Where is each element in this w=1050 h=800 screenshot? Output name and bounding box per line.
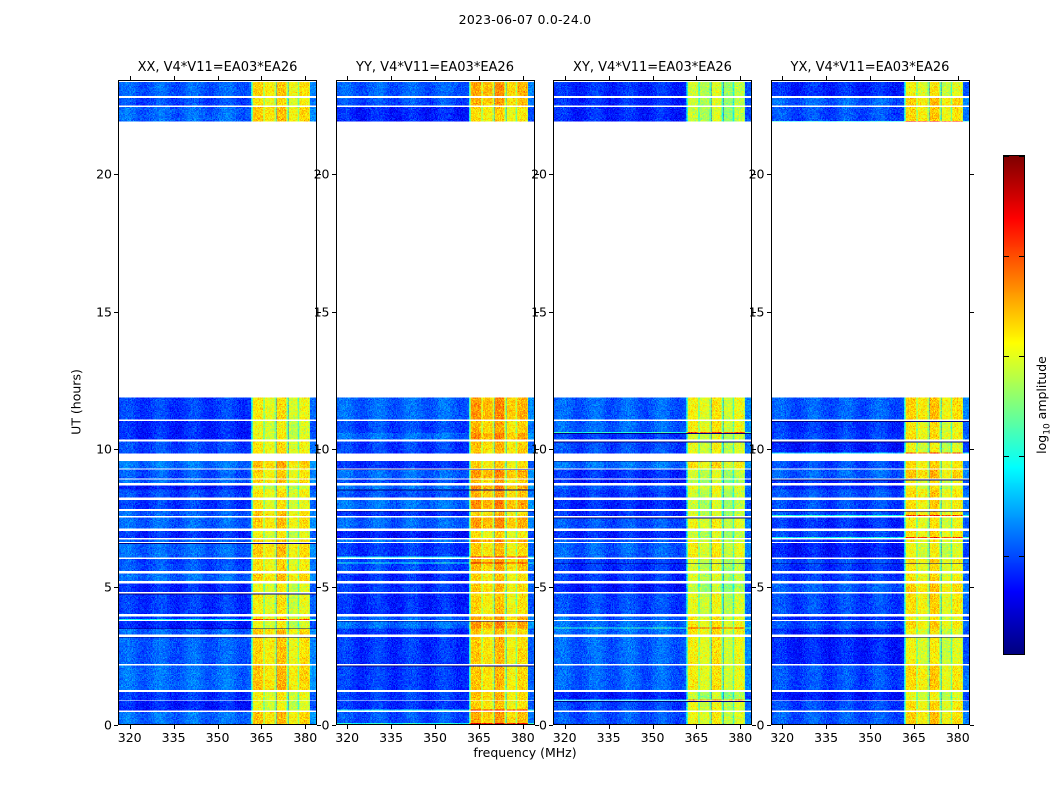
y-axis-tick bbox=[767, 725, 771, 726]
x-axis-tick-top bbox=[565, 76, 566, 80]
x-axis-tick-label: 320 bbox=[770, 730, 794, 745]
x-axis-tick-top bbox=[479, 76, 480, 80]
x-axis-tick-label: 365 bbox=[467, 730, 491, 745]
y-axis-tick-label: 0 bbox=[757, 718, 765, 733]
x-axis-tick-label: 350 bbox=[858, 730, 882, 745]
figure-suptitle: 2023-06-07 0.0-24.0 bbox=[0, 12, 1050, 27]
x-axis-tick-label: 335 bbox=[597, 730, 621, 745]
colorbar-tick bbox=[1004, 356, 1009, 357]
y-axis-tick bbox=[767, 587, 771, 588]
y-axis-tick-label: 15 bbox=[531, 304, 547, 319]
colorbar-tick bbox=[1004, 556, 1009, 557]
y-axis-tick-label: 10 bbox=[749, 442, 765, 457]
x-axis-tick-label: 350 bbox=[423, 730, 447, 745]
colorbar-label-prefix: log bbox=[1034, 435, 1049, 454]
x-axis-tick-label: 365 bbox=[902, 730, 926, 745]
colorbar-tick bbox=[1004, 156, 1009, 157]
y-axis-tick-label: 0 bbox=[322, 718, 330, 733]
y-axis-tick-label: 5 bbox=[322, 580, 330, 595]
x-axis-tick bbox=[782, 725, 783, 729]
y-axis-tick bbox=[114, 587, 118, 588]
y-axis-tick-right bbox=[970, 587, 974, 588]
x-axis-tick-top bbox=[130, 76, 131, 80]
x-axis-tick bbox=[391, 725, 392, 729]
y-axis-tick bbox=[114, 312, 118, 313]
x-axis-tick-top bbox=[609, 76, 610, 80]
colorbar-label-sub: 10 bbox=[1042, 423, 1050, 434]
heatmap-image-yy bbox=[337, 81, 534, 724]
x-axis-tick bbox=[130, 725, 131, 729]
y-axis-tick bbox=[549, 587, 553, 588]
y-axis-tick-label: 15 bbox=[749, 304, 765, 319]
x-axis-tick-label: 350 bbox=[206, 730, 230, 745]
colorbar-tick bbox=[1004, 456, 1009, 457]
x-axis-tick-top bbox=[826, 76, 827, 80]
panel-title-xy: XY, V4*V11=EA03*EA26 bbox=[553, 60, 752, 75]
x-axis-tick-top bbox=[305, 76, 306, 80]
colorbar-tick bbox=[1019, 156, 1024, 157]
x-axis-tick-label: 380 bbox=[728, 730, 752, 745]
y-axis-tick bbox=[767, 449, 771, 450]
colorbar-tick bbox=[1004, 256, 1009, 257]
heatmap-image-yx bbox=[772, 81, 969, 724]
y-axis-tick-label: 15 bbox=[314, 304, 330, 319]
y-axis-tick-right bbox=[970, 449, 974, 450]
y-axis-tick bbox=[114, 725, 118, 726]
x-axis-tick-top bbox=[914, 76, 915, 80]
y-axis-tick bbox=[767, 174, 771, 175]
panel-yy[interactable]: YY, V4*V11=EA03*EA26 3203353503653800510… bbox=[336, 80, 535, 725]
x-axis-tick bbox=[696, 725, 697, 729]
y-axis-tick bbox=[549, 312, 553, 313]
colorbar-tick bbox=[1019, 256, 1024, 257]
y-axis-tick bbox=[332, 449, 336, 450]
colorbar[interactable]: -4-3-2-101 bbox=[1003, 155, 1025, 655]
y-axis-tick bbox=[549, 174, 553, 175]
x-axis-tick bbox=[479, 725, 480, 729]
x-axis-label: frequency (MHz) bbox=[0, 745, 1050, 760]
x-axis-tick bbox=[347, 725, 348, 729]
y-axis-tick-label: 5 bbox=[539, 580, 547, 595]
x-axis-tick-label: 320 bbox=[553, 730, 577, 745]
x-axis-tick bbox=[914, 725, 915, 729]
x-axis-tick-top bbox=[696, 76, 697, 80]
x-axis-tick bbox=[305, 725, 306, 729]
x-axis-tick-top bbox=[782, 76, 783, 80]
figure-canvas: 2023-06-07 0.0-24.0 XX, V4*V11=EA03*EA26… bbox=[0, 0, 1050, 800]
y-axis-tick bbox=[332, 587, 336, 588]
y-axis-tick-right bbox=[317, 725, 321, 726]
y-axis-tick-right bbox=[317, 587, 321, 588]
axes-xy bbox=[553, 80, 752, 725]
panel-xy[interactable]: XY, V4*V11=EA03*EA26 3203353503653800510… bbox=[553, 80, 752, 725]
x-axis-tick bbox=[870, 725, 871, 729]
y-axis-tick bbox=[332, 174, 336, 175]
y-axis-tick bbox=[767, 312, 771, 313]
x-axis-tick-label: 380 bbox=[511, 730, 535, 745]
x-axis-tick-top bbox=[218, 76, 219, 80]
colorbar-label: log10 amplitude bbox=[1034, 356, 1050, 454]
y-axis-tick-right bbox=[970, 725, 974, 726]
y-axis-tick bbox=[332, 312, 336, 313]
colorbar-tick bbox=[1019, 556, 1024, 557]
x-axis-tick bbox=[826, 725, 827, 729]
x-axis-tick-top bbox=[653, 76, 654, 80]
x-axis-tick bbox=[653, 725, 654, 729]
heatmap-image-xx bbox=[119, 81, 316, 724]
axes-yy bbox=[336, 80, 535, 725]
y-axis-tick-label: 5 bbox=[757, 580, 765, 595]
y-axis-tick-label: 5 bbox=[104, 580, 112, 595]
x-axis-tick-top bbox=[347, 76, 348, 80]
x-axis-tick-label: 365 bbox=[684, 730, 708, 745]
x-axis-tick-top bbox=[391, 76, 392, 80]
y-axis-tick bbox=[114, 449, 118, 450]
x-axis-tick-label: 380 bbox=[946, 730, 970, 745]
x-axis-tick-label: 365 bbox=[249, 730, 273, 745]
panel-title-yx: YX, V4*V11=EA03*EA26 bbox=[771, 60, 970, 75]
x-axis-tick-top bbox=[261, 76, 262, 80]
x-axis-tick bbox=[523, 725, 524, 729]
y-axis-tick-label: 10 bbox=[96, 442, 112, 457]
y-axis-tick-label: 15 bbox=[96, 304, 112, 319]
x-axis-tick bbox=[740, 725, 741, 729]
y-axis-tick bbox=[549, 449, 553, 450]
x-axis-tick-label: 350 bbox=[641, 730, 665, 745]
x-axis-tick bbox=[218, 725, 219, 729]
y-axis-tick-label: 20 bbox=[749, 166, 765, 181]
x-axis-tick-label: 335 bbox=[162, 730, 186, 745]
x-axis-tick-label: 320 bbox=[335, 730, 359, 745]
y-axis-tick-label: 0 bbox=[104, 718, 112, 733]
colorbar-tick bbox=[1019, 456, 1024, 457]
axes-xx bbox=[118, 80, 317, 725]
panel-title-xx: XX, V4*V11=EA03*EA26 bbox=[118, 60, 317, 75]
y-axis-tick-label: 20 bbox=[96, 166, 112, 181]
y-axis-tick-label: 10 bbox=[531, 442, 547, 457]
y-axis-tick-right bbox=[970, 312, 974, 313]
panel-yx[interactable]: YX, V4*V11=EA03*EA26 3203353503653800510… bbox=[771, 80, 970, 725]
y-axis-tick bbox=[114, 174, 118, 175]
y-axis-tick-label: 0 bbox=[539, 718, 547, 733]
colorbar-label-suffix: amplitude bbox=[1034, 356, 1049, 423]
x-axis-tick-top bbox=[523, 76, 524, 80]
x-axis-tick-top bbox=[958, 76, 959, 80]
panel-xx[interactable]: XX, V4*V11=EA03*EA26 3203353503653800510… bbox=[118, 80, 317, 725]
y-axis-tick-right bbox=[752, 587, 756, 588]
x-axis-tick bbox=[261, 725, 262, 729]
x-axis-tick-top bbox=[870, 76, 871, 80]
x-axis-tick-top bbox=[435, 76, 436, 80]
y-axis-tick bbox=[549, 725, 553, 726]
y-axis-tick-right bbox=[752, 725, 756, 726]
y-axis-tick-label: 10 bbox=[314, 442, 330, 457]
x-axis-tick-top bbox=[740, 76, 741, 80]
y-axis-tick-label: 20 bbox=[531, 166, 547, 181]
x-axis-tick-top bbox=[174, 76, 175, 80]
x-axis-tick bbox=[174, 725, 175, 729]
x-axis-tick bbox=[565, 725, 566, 729]
colorbar-tick bbox=[1019, 356, 1024, 357]
axes-yx bbox=[771, 80, 970, 725]
y-axis-tick-right bbox=[970, 174, 974, 175]
x-axis-tick-label: 380 bbox=[293, 730, 317, 745]
x-axis-tick bbox=[958, 725, 959, 729]
heatmap-image-xy bbox=[554, 81, 751, 724]
y-axis-tick bbox=[332, 725, 336, 726]
y-axis-label: UT (hours) bbox=[69, 369, 84, 435]
x-axis-tick-label: 320 bbox=[118, 730, 142, 745]
y-axis-tick-right bbox=[535, 587, 539, 588]
x-axis-tick-label: 335 bbox=[379, 730, 403, 745]
panel-title-yy: YY, V4*V11=EA03*EA26 bbox=[336, 60, 535, 75]
y-axis-tick-right bbox=[535, 725, 539, 726]
x-axis-tick bbox=[435, 725, 436, 729]
x-axis-tick-label: 335 bbox=[814, 730, 838, 745]
x-axis-tick bbox=[609, 725, 610, 729]
y-axis-tick-label: 20 bbox=[314, 166, 330, 181]
